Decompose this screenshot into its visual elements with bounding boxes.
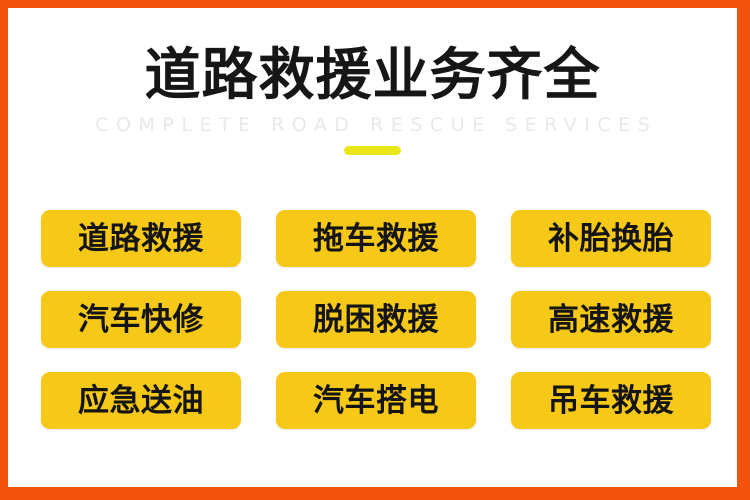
border-left	[0, 0, 8, 500]
rescue-services-poster: 道路救援业务齐全 COMPLETE ROAD RESCUE SERVICES 道…	[0, 0, 750, 500]
service-button-grid: 道路救援 拖车救援 补胎换胎 汽车快修 脱困救援 高速救援 应急送油 汽车搭电 …	[41, 210, 711, 429]
service-button-emergency-fuel-delivery[interactable]: 应急送油	[41, 372, 241, 429]
service-button-label: 补胎换胎	[548, 222, 674, 256]
service-button-highway-rescue[interactable]: 高速救援	[511, 291, 711, 348]
border-top	[0, 0, 750, 8]
divider	[8, 146, 737, 155]
service-button-label: 汽车搭电	[313, 384, 439, 418]
page-title: 道路救援业务齐全	[8, 44, 737, 108]
service-button-quick-car-repair[interactable]: 汽车快修	[41, 291, 241, 348]
service-button-crane-rescue[interactable]: 吊车救援	[511, 372, 711, 429]
page-subtitle: COMPLETE ROAD RESCUE SERVICES	[8, 114, 737, 136]
service-button-label: 脱困救援	[313, 303, 439, 337]
service-button-jump-start[interactable]: 汽车搭电	[276, 372, 476, 429]
service-button-label: 应急送油	[78, 384, 204, 418]
service-button-road-rescue[interactable]: 道路救援	[41, 210, 241, 267]
service-button-label: 吊车救援	[548, 384, 674, 418]
divider-pill	[344, 146, 401, 155]
service-button-towing-rescue[interactable]: 拖车救援	[276, 210, 476, 267]
service-button-extrication-rescue[interactable]: 脱困救援	[276, 291, 476, 348]
border-bottom	[0, 487, 750, 500]
service-button-tire-repair-replace[interactable]: 补胎换胎	[511, 210, 711, 267]
service-button-label: 汽车快修	[78, 303, 204, 337]
service-button-label: 拖车救援	[313, 222, 439, 256]
service-button-label: 高速救援	[548, 303, 674, 337]
service-button-label: 道路救援	[78, 222, 204, 256]
border-right	[737, 0, 750, 500]
